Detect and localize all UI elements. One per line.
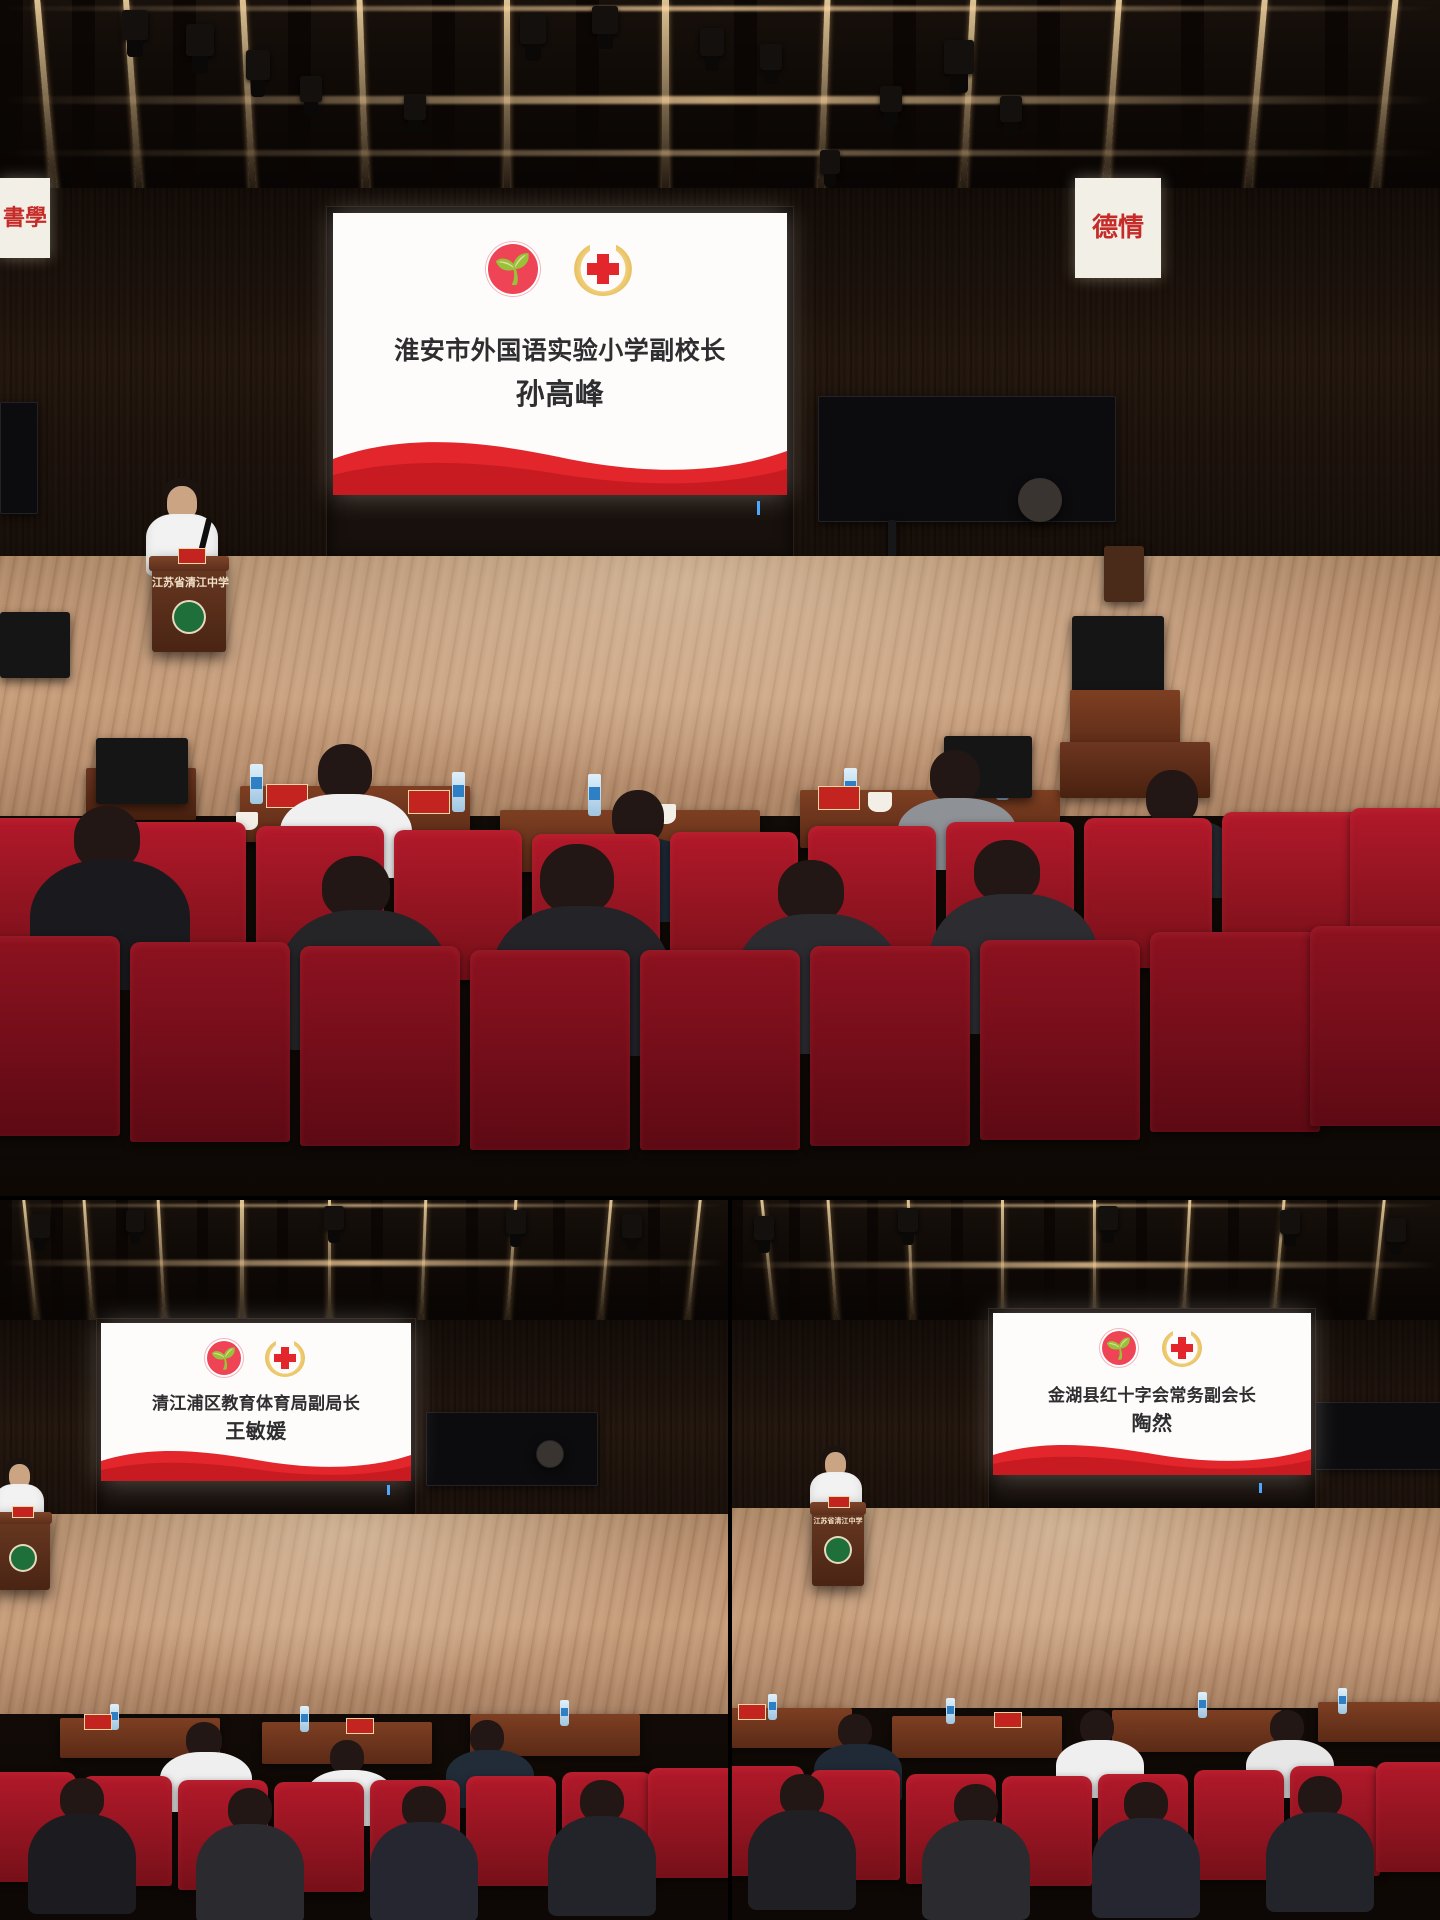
stage-light (754, 1216, 774, 1240)
panel-top: 書學 德情 🌱 (0, 0, 1440, 1196)
podium-sign-text: 江苏省清江中学 (152, 574, 226, 590)
slide-logos: 🌱 (993, 1329, 1311, 1367)
panel-bottom-left: 🌱 清江浦区教育体育局副局长 王敏媛 (0, 1200, 728, 1920)
attendee-head (838, 1714, 872, 1748)
slide-title-line: 金湖县红十字会常务副会长 (993, 1381, 1311, 1406)
water-bottle (588, 774, 601, 816)
water-bottle (560, 1700, 569, 1726)
water-bottle (300, 1706, 309, 1732)
podium-group-bl (0, 1448, 78, 1608)
side-display-right (818, 396, 1116, 522)
auditorium-seat (1310, 926, 1440, 1126)
attendee-head (1146, 770, 1198, 824)
red-cross-icon (1162, 1329, 1202, 1367)
led-indicator (387, 1485, 390, 1495)
podium[interactable]: 江苏省清江中学 (152, 556, 226, 652)
wall-art-right: 德情 (1075, 178, 1161, 278)
wall-art-right-text: 德情 (1092, 216, 1144, 241)
podium-emblem (11, 1546, 35, 1570)
water-bottle (768, 1694, 777, 1720)
stage-light (592, 6, 618, 34)
slide-bottom-left: 🌱 清江浦区教育体育局副局长 王敏媛 (101, 1323, 411, 1481)
podium-group-br: 江苏省清江中学 (732, 1426, 748, 1606)
podium-emblem (826, 1538, 850, 1562)
led-indicator (757, 501, 760, 515)
auditorium-seat (0, 936, 120, 1136)
stage-light (880, 86, 902, 112)
attendee-shoulders (370, 1822, 478, 1920)
conference-table (1112, 1710, 1282, 1752)
attendee-head (1080, 1710, 1114, 1744)
table-nameplate (408, 790, 450, 814)
fan-right (1018, 478, 1062, 522)
slide-title-line: 淮安市外国语实验小学副校长 (333, 331, 787, 367)
floor-speaker-right (1072, 616, 1164, 692)
water-bottle (250, 764, 263, 804)
slide-red-wave (333, 425, 787, 495)
auditorium-seat (1150, 932, 1320, 1132)
table-nameplate (346, 1718, 374, 1734)
tea-cup (868, 792, 892, 812)
stage-light (126, 1210, 144, 1232)
attendee-head (318, 744, 372, 800)
stage-light (30, 1214, 50, 1238)
side-display-left (0, 402, 38, 514)
attendee-head (540, 844, 614, 914)
side-display-right-br (1300, 1402, 1440, 1470)
stage-light (700, 28, 724, 56)
stage-light (300, 76, 322, 102)
audience-area-top (0, 760, 1440, 1196)
audience-area-br (732, 1662, 1440, 1920)
attendee-head (322, 856, 390, 918)
attendee-shoulders (1092, 1818, 1200, 1918)
slide-name-line: 陶然 (993, 1407, 1311, 1436)
side-display-bl (426, 1412, 598, 1486)
ceiling-bl (0, 1200, 728, 1328)
ceiling-top (0, 0, 1440, 200)
school-tree-icon: 🌱 (207, 1341, 241, 1375)
slide-logos: 🌱 (101, 1339, 411, 1377)
school-tree-icon: 🌱 (1102, 1331, 1136, 1365)
stage-light (622, 1214, 642, 1238)
collage-root: 書學 德情 🌱 (0, 0, 1440, 1920)
stage-light (898, 1208, 918, 1232)
attendee-shoulders (1266, 1812, 1374, 1912)
attendee-head (974, 840, 1040, 902)
stage-light (1098, 1206, 1118, 1230)
attendee-shoulders (748, 1810, 856, 1910)
water-bottle (946, 1698, 955, 1724)
attendee-head (1270, 1710, 1304, 1744)
water-bottle (1198, 1692, 1207, 1718)
stage-light (760, 44, 782, 70)
stage-light (520, 14, 546, 44)
auditorium-seat (300, 946, 460, 1146)
led-wall-top: 🌱 淮安市外国语实验小学副校长 孙高峰 (326, 206, 794, 560)
stage-light (506, 1210, 526, 1234)
podium-sign-text: 江苏省清江中学 (812, 1516, 864, 1526)
auditorium-seat (648, 1768, 728, 1878)
auditorium-seat (130, 942, 290, 1142)
stage-light (186, 24, 214, 56)
red-cross-icon (265, 1339, 305, 1377)
floor-speaker-left (0, 612, 70, 678)
auditorium-seat (470, 950, 630, 1150)
audience-area-bl (0, 1668, 728, 1920)
attendee-head (930, 750, 980, 802)
stage-light (324, 1206, 344, 1230)
led-indicator (1259, 1483, 1262, 1493)
slide-top: 🌱 淮安市外国语实验小学副校长 孙高峰 (333, 213, 787, 495)
table-nameplate (738, 1704, 766, 1720)
attendee-head (470, 1720, 504, 1754)
slide-logos: 🌱 (333, 241, 787, 297)
podium-group-top: 江苏省清江中学 (140, 470, 260, 670)
stage-light (246, 50, 270, 80)
led-wall-br: 🌱 金湖县红十字会常务副会长 陶然 (988, 1308, 1316, 1510)
table-nameplate (818, 786, 860, 810)
panel-bottom-right: 🌱 金湖县红十字会常务副会长 陶然 (732, 1200, 1440, 1920)
attendee-head (330, 1740, 364, 1774)
auditorium-seat (640, 950, 800, 1150)
slide-red-wave (993, 1435, 1311, 1475)
podium-emblem (174, 602, 204, 632)
water-bottle (452, 772, 465, 812)
attendee-shoulders (548, 1816, 656, 1916)
chair-right (1104, 546, 1144, 602)
podium[interactable]: 江苏省清江中学 (812, 1502, 864, 1586)
stage-light (122, 10, 148, 40)
attendee-shoulders (196, 1824, 304, 1920)
water-bottle (1338, 1688, 1347, 1714)
wall-art-left-text: 書學 (3, 208, 47, 229)
attendee-shoulders (922, 1820, 1030, 1920)
podium[interactable] (0, 1512, 50, 1590)
auditorium-seat (466, 1776, 556, 1886)
stage-light (944, 40, 974, 74)
conference-table (892, 1716, 1062, 1758)
podium-nameplate (178, 548, 206, 564)
stage-light (820, 150, 840, 174)
auditorium-seat (810, 946, 970, 1146)
table-nameplate (84, 1714, 112, 1730)
podium-nameplate (12, 1506, 34, 1518)
wall-art-left: 書學 (0, 178, 50, 258)
red-cross-icon (574, 242, 632, 296)
floor-monitor (96, 738, 188, 804)
table-nameplate (994, 1712, 1022, 1728)
slide-name-line: 王敏媛 (101, 1415, 411, 1444)
school-tree-icon: 🌱 (488, 244, 538, 294)
slide-name-line: 孙高峰 (333, 371, 787, 413)
auditorium-seat (980, 940, 1140, 1140)
stage-light (1386, 1218, 1406, 1242)
stage-light (404, 94, 426, 120)
slide-bottom-right: 🌱 金湖县红十字会常务副会长 陶然 (993, 1313, 1311, 1475)
stage-light (1280, 1210, 1300, 1234)
podium-nameplate (828, 1496, 850, 1508)
slide-red-wave (101, 1441, 411, 1481)
stage-light (1000, 96, 1022, 122)
attendee-shoulders (28, 1814, 136, 1914)
fan-bl (536, 1440, 564, 1468)
conference-table (1318, 1702, 1440, 1742)
slide-title-line: 清江浦区教育体育局副局长 (101, 1389, 411, 1414)
attendee-head (778, 860, 844, 922)
led-wall-bl: 🌱 清江浦区教育体育局副局长 王敏媛 (96, 1318, 416, 1516)
auditorium-seat (1376, 1762, 1440, 1872)
